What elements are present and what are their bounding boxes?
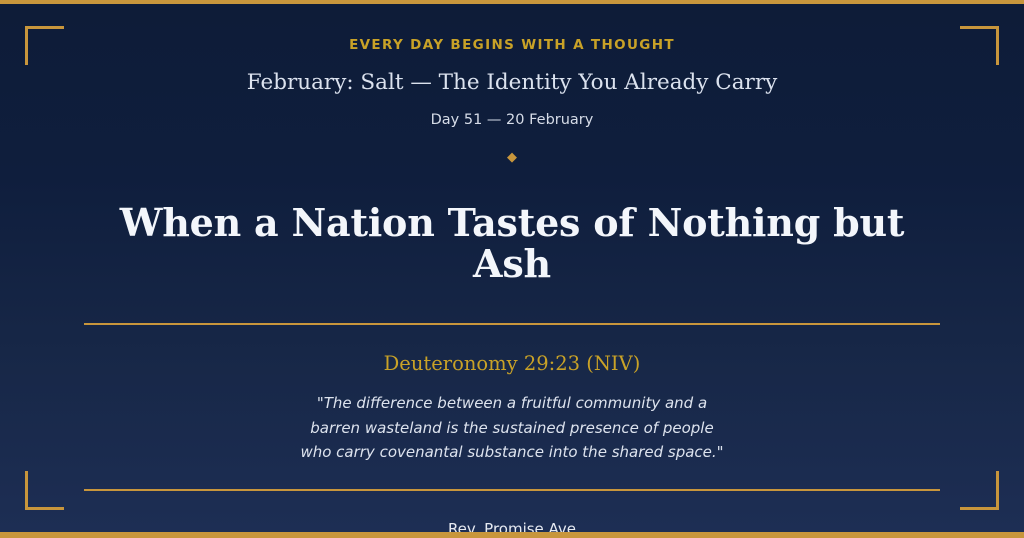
verse-line: who carry covenantal substance into the … [84,440,940,464]
author-name: Rev. Promise Ave [84,522,940,537]
card-content: EVERY DAY BEGINS WITH A THOUGHT February… [0,4,1024,532]
verse-reference: Deuteronomy 29:23 (NIV) [84,354,940,374]
eyebrow-tagline: EVERY DAY BEGINS WITH A THOUGHT [84,39,940,53]
page-title: When a Nation Tastes of Nothing but Ash [84,202,940,284]
diamond-ornament-icon: ◆ [84,151,940,164]
divider-top [84,323,940,325]
verse-line: barren wasteland is the sustained presen… [84,416,940,440]
series-title: February: Salt — The Identity You Alread… [84,70,940,96]
divider-bottom [84,489,940,491]
devotional-card: EVERY DAY BEGINS WITH A THOUGHT February… [0,0,1024,538]
verse-line: "The difference between a fruitful commu… [84,391,940,415]
verse-text: "The difference between a fruitful commu… [84,391,940,464]
day-counter: Day 51 — 20 February [84,113,940,128]
